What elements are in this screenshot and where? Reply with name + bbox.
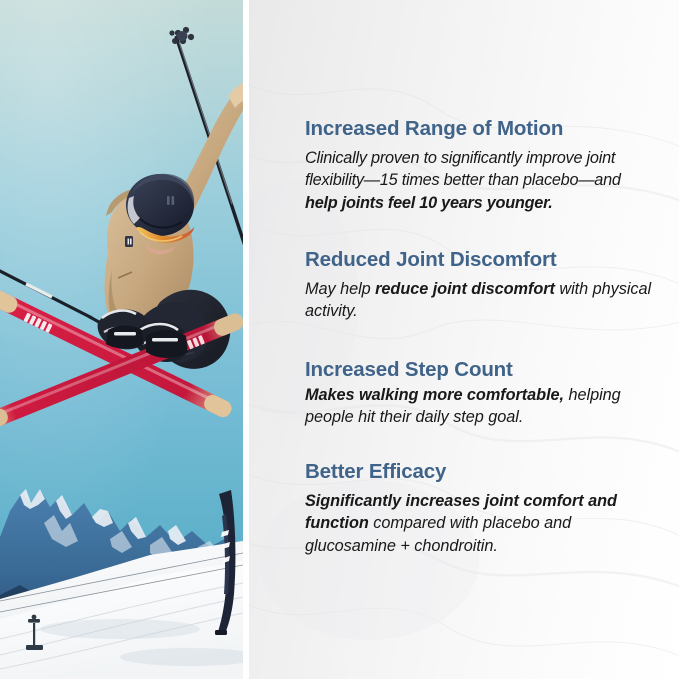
benefit-heading-1: Increased Range of Motion — [305, 118, 653, 141]
panel-texture — [249, 0, 679, 679]
skier-mid-air-photo — [0, 0, 243, 679]
benefit-item-3: Increased Step Count Makes walking more … — [305, 359, 653, 429]
benefit-body-1: Clinically proven to significantly impro… — [305, 147, 653, 214]
benefit-body-4: Significantly increases joint comfort an… — [305, 490, 653, 557]
benefit-item-1: Increased Range of Motion Clinically pro… — [305, 118, 653, 214]
benefit-body-2: May help reduce joint discomfort with ph… — [305, 278, 653, 323]
benefit-body-1-part-2: help joints feel 10 years younger. — [305, 194, 553, 212]
jacket-logo — [125, 236, 133, 247]
benefit-heading-2: Reduced Joint Discomfort — [305, 249, 653, 272]
helmet — [126, 174, 194, 236]
product-benefits-infographic: Increased Range of Motion Clinically pro… — [0, 0, 679, 679]
benefit-body-1-part-1: Clinically proven to significantly impro… — [305, 149, 621, 189]
benefit-body-3-part-1: Makes walking more comfortable, — [305, 386, 564, 404]
benefits-panel: Increased Range of Motion Clinically pro… — [249, 0, 679, 679]
benefit-heading-3: Increased Step Count — [305, 359, 653, 382]
benefit-body-3: Makes walking more comfortable, helping … — [305, 384, 653, 429]
skier-figure — [0, 0, 243, 679]
benefit-body-2-part-1: May help — [305, 280, 375, 298]
benefit-item-2: Reduced Joint Discomfort May help reduce… — [305, 249, 653, 323]
benefit-heading-4: Better Efficacy — [305, 461, 653, 484]
benefit-item-4: Better Efficacy Significantly increases … — [305, 461, 653, 557]
benefit-body-2-part-2: reduce joint discomfort — [375, 280, 555, 298]
